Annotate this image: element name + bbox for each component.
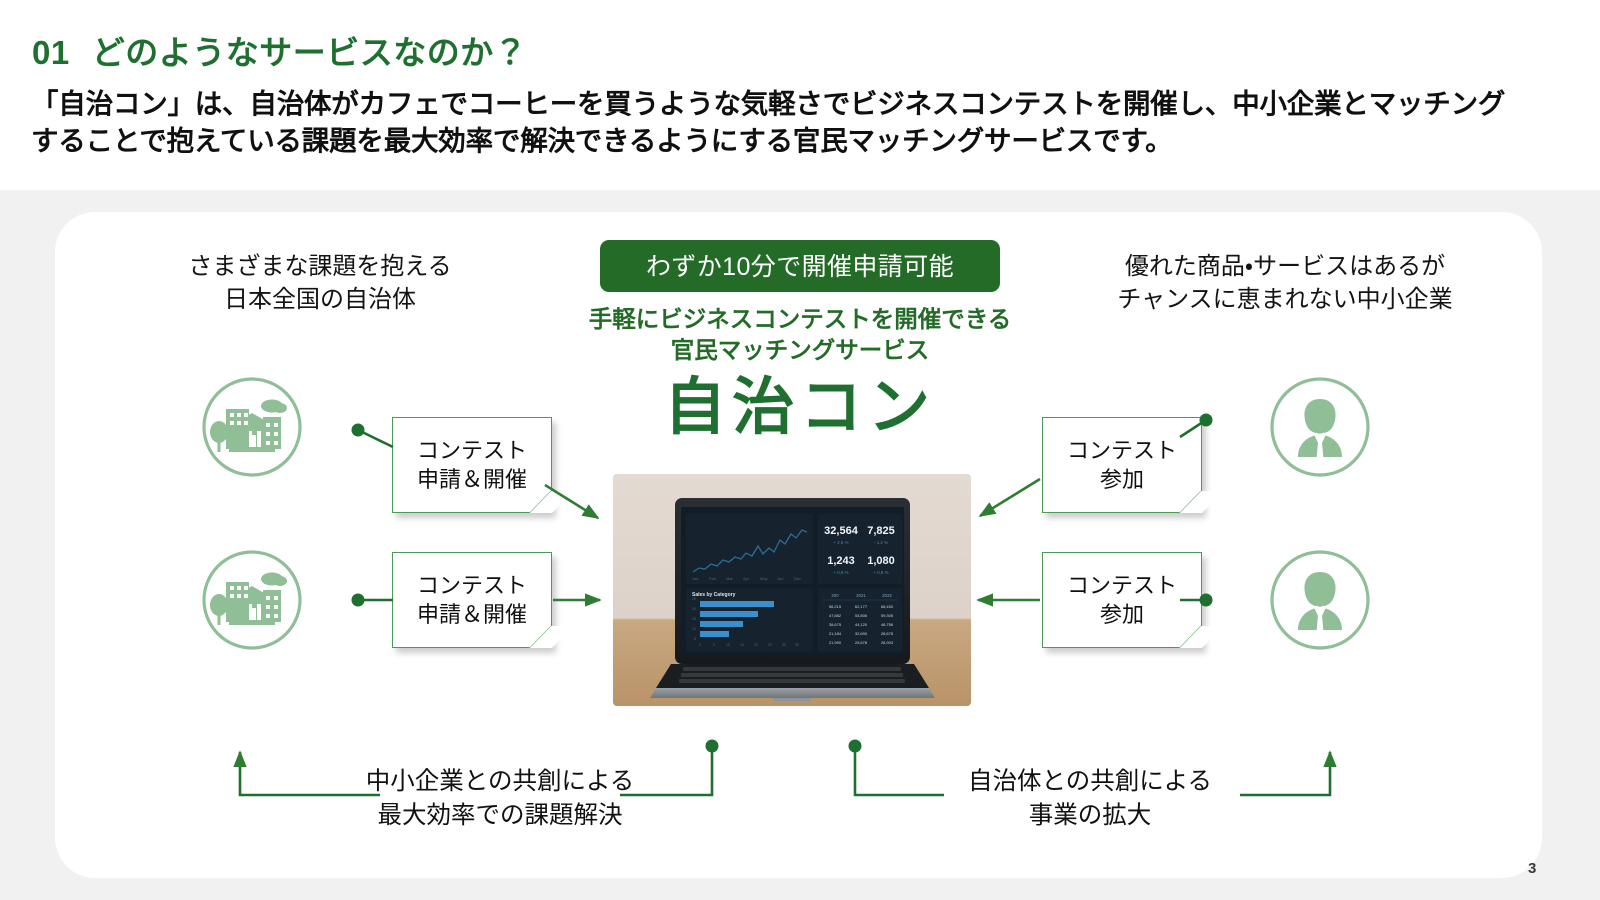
tagline-line2: 官民マッチングサービス <box>540 335 1060 366</box>
svg-text:May: May <box>760 576 768 581</box>
svg-text:32,564: 32,564 <box>824 525 859 537</box>
svg-text:25: 25 <box>692 597 696 601</box>
svg-text:28,678: 28,678 <box>881 631 894 636</box>
callout-contest-apply-host[interactable]: コンテスト 申請＆開催 <box>392 552 552 648</box>
svg-text:25,678: 25,678 <box>855 640 868 645</box>
svg-text:20: 20 <box>754 643 758 647</box>
business-person-icon <box>1268 375 1372 479</box>
svg-text:48,756: 48,756 <box>881 622 894 627</box>
svg-text:+ 2,5 %: + 2,5 % <box>833 540 848 545</box>
tagline-line1: 手軽にビジネスコンテストを開催できる <box>540 304 1060 335</box>
svg-text:Dec: Dec <box>794 576 801 581</box>
callout-contest-apply-host[interactable]: コンテスト 申請＆開催 <box>392 417 552 513</box>
left-caption-line1: さまざまな課題を抱える <box>120 250 520 283</box>
loop-label-right: 自治体との共創による 事業の拡大 <box>880 765 1300 834</box>
right-caption-line1: 優れた商品・サービスはあるが <box>1085 250 1485 283</box>
svg-text:32,690: 32,690 <box>855 631 868 636</box>
brand-tagline: 手軽にビジネスコンテストを開催できる 官民マッチングサービス <box>540 304 1060 367</box>
svg-text:47,882: 47,882 <box>829 613 842 618</box>
svg-text:Mar: Mar <box>726 576 734 581</box>
callout-line1: コンテスト <box>417 438 527 463</box>
svg-text:Jan: Jan <box>692 576 698 581</box>
svg-text:5: 5 <box>713 643 715 647</box>
svg-text:30: 30 <box>782 643 786 647</box>
left-column-caption: さまざまな課題を抱える 日本全国の自治体 <box>120 250 520 316</box>
right-column-caption: 優れた商品・サービスはあるが チャンスに恵まれない中小企業 <box>1085 250 1485 316</box>
svg-text:7,825: 7,825 <box>867 525 895 537</box>
svg-text:38,675: 38,675 <box>829 622 842 627</box>
svg-text:1,080: 1,080 <box>867 555 895 567</box>
city-government-icon <box>200 548 304 652</box>
svg-text:28,903: 28,903 <box>881 640 894 645</box>
svg-text:68,450: 68,450 <box>881 604 894 609</box>
svg-text:200: 200 <box>831 593 839 598</box>
callout-contest-join[interactable]: コンテスト 参加 <box>1042 552 1202 648</box>
callout-contest-join[interactable]: コンテスト 参加 <box>1042 417 1202 513</box>
business-person-icon <box>1268 548 1372 652</box>
section-number: 01 <box>32 34 70 71</box>
callout-line2: 申請＆開催 <box>417 602 527 627</box>
svg-text:21,990: 21,990 <box>829 640 842 645</box>
banner-pill: わずか10分で開催申請可能 <box>600 240 1000 292</box>
svg-text:25: 25 <box>768 643 772 647</box>
svg-text:53,806: 53,806 <box>855 613 868 618</box>
svg-text:56,215: 56,215 <box>829 604 842 609</box>
svg-text:20: 20 <box>692 607 696 611</box>
svg-text:Apr: Apr <box>743 576 750 581</box>
center-brand-block: わずか10分で開催申請可能 手軽にビジネスコンテストを開催できる 官民マッチング… <box>540 240 1060 440</box>
callout-text: コンテスト 参加 <box>1043 571 1201 629</box>
svg-text:+ 0,9 %: + 0,9 % <box>833 570 848 575</box>
callout-line2: 申請＆開催 <box>417 467 527 492</box>
city-government-icon <box>200 375 304 479</box>
loop-right-line2: 事業の拡大 <box>880 799 1300 833</box>
page-title: 01どのようなサービスなのか？ <box>32 26 527 74</box>
loop-left-line2: 最大効率での課題解決 <box>290 799 710 833</box>
section-title-text: どのようなサービスなのか？ <box>92 34 528 71</box>
svg-text:Jun: Jun <box>777 576 783 581</box>
callout-line1: コンテスト <box>417 573 527 598</box>
left-caption-line2: 日本全国の自治体 <box>120 283 520 316</box>
svg-text:15: 15 <box>692 617 696 621</box>
svg-text:0: 0 <box>699 643 701 647</box>
svg-text:10: 10 <box>726 643 730 647</box>
svg-text:1,243: 1,243 <box>827 555 855 567</box>
svg-text:15: 15 <box>740 643 744 647</box>
svg-text:Feb: Feb <box>709 576 717 581</box>
svg-text:35: 35 <box>795 643 799 647</box>
svg-text:62,177: 62,177 <box>855 604 868 609</box>
brand-logo: 自治コン <box>540 375 1060 440</box>
slide-description: 「自治コン」は、自治体がカフェでコーヒーを買うような気軽さでビジネスコンテストを… <box>31 86 1511 160</box>
laptop-dashboard-image: JanFebMar AprMayJunDec 32,564 7,825 1,24… <box>613 474 971 706</box>
slide-header: 01どのようなサービスなのか？ 「自治コン」は、自治体がカフェでコーヒーを買うよ… <box>0 0 1600 190</box>
svg-text:Sales by Category: Sales by Category <box>692 592 736 598</box>
svg-text:2021: 2021 <box>856 593 866 598</box>
callout-text: コンテスト 参加 <box>1043 436 1201 494</box>
loop-label-left: 中小企業との共創による 最大効率での課題解決 <box>290 765 710 834</box>
page-number: 3 <box>1528 860 1536 877</box>
svg-text:21,184: 21,184 <box>829 631 842 636</box>
loop-right-line1: 自治体との共創による <box>880 765 1300 799</box>
callout-line1: コンテスト <box>1067 573 1177 598</box>
callout-line1: コンテスト <box>1067 438 1177 463</box>
svg-text:10: 10 <box>692 627 696 631</box>
loop-left-line1: 中小企業との共創による <box>290 765 710 799</box>
callout-line2: 参加 <box>1100 467 1144 492</box>
callout-line2: 参加 <box>1100 602 1144 627</box>
svg-text:59,305: 59,305 <box>881 613 894 618</box>
callout-text: コンテスト 申請＆開催 <box>393 571 551 629</box>
callout-text: コンテスト 申請＆開催 <box>393 436 551 494</box>
svg-text:+ 0,8 %: + 0,8 % <box>873 570 888 575</box>
right-caption-line2: チャンスに恵まれない中小企業 <box>1085 283 1485 316</box>
svg-text:2022: 2022 <box>882 593 892 598</box>
svg-text:- 1,2 %: - 1,2 % <box>874 540 888 545</box>
svg-text:5: 5 <box>694 637 696 641</box>
svg-text:44,120: 44,120 <box>855 622 868 627</box>
